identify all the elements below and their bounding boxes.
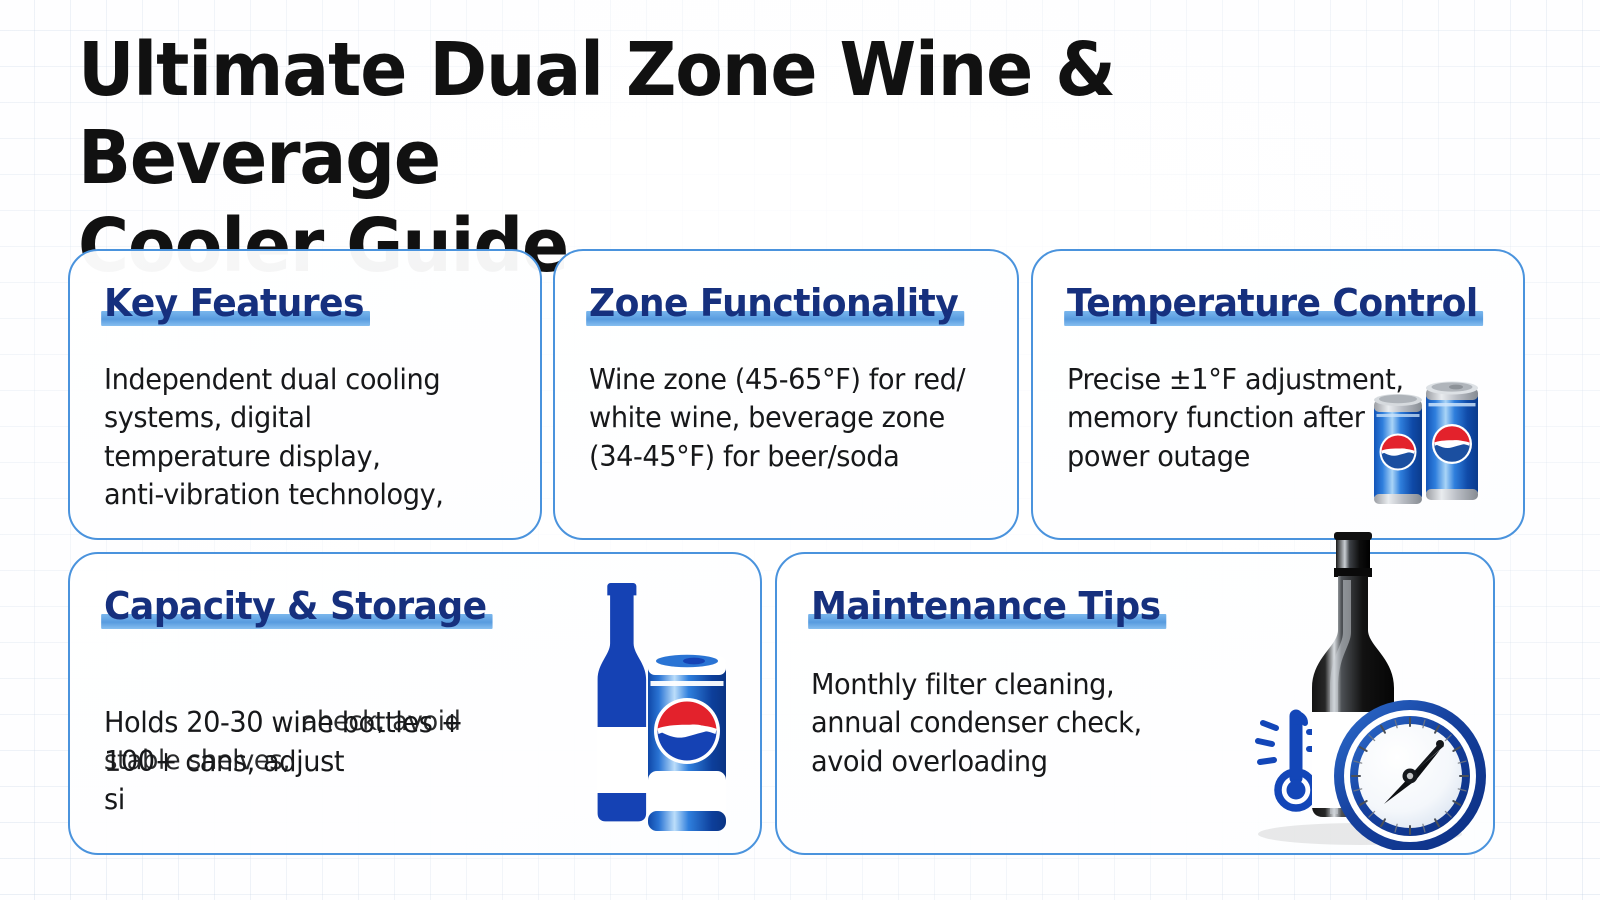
garbled-overlay-text-1: aheck, avoid	[302, 704, 461, 740]
card-heading-zone-functionality: Zone Functionality	[589, 283, 958, 323]
card-heading-maintenance-tips: Maintenance Tips	[811, 586, 1161, 626]
card-inner: Zone Functionality Wine zone (45-65°F) f…	[555, 251, 1017, 538]
card-zone-functionality[interactable]: Zone Functionality Wine zone (45-65°F) f…	[553, 249, 1019, 540]
card-key-features[interactable]: Key Features Independent dual cooling sy…	[68, 249, 542, 540]
card-heading-capacity-storage: Capacity & Storage	[104, 586, 487, 626]
card-body-maintenance-tips: Monthly filter cleaning, annual condense…	[811, 666, 1212, 781]
card-inner: Key Features Independent dual cooling sy…	[70, 251, 540, 538]
garbled-overlay-text-2: stable shelves,	[104, 743, 290, 779]
card-body-capacity-storage: Holds 20-30 wine bottles + 100+ cans, ad…	[104, 666, 582, 895]
card-body-key-features: Independent dual cooling systems, digita…	[104, 361, 488, 514]
temperature-gauge-icon	[1334, 700, 1486, 850]
card-body-zone-functionality: Wine zone (45-65°F) for red/ white wine,…	[589, 361, 965, 476]
blue-bottle-and-can-icon	[566, 565, 738, 833]
infographic-stage: Ultimate Dual Zone Wine & Beverage Coole…	[0, 0, 1600, 900]
card-heading-key-features: Key Features	[104, 283, 364, 323]
card-heading-temperature-control: Temperature Control	[1067, 283, 1478, 323]
wine-bottle-gauge-thermometer-icon	[1232, 518, 1494, 850]
pepsi-cans-pair-icon	[1368, 374, 1488, 512]
